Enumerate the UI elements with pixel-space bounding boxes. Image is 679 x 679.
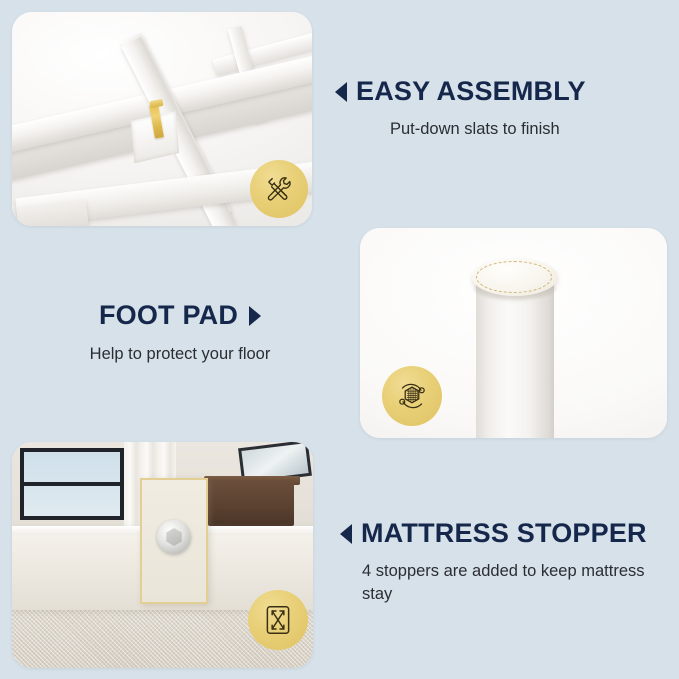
text-block-mattress-stopper: MATTRESS STOPPER 4 stoppers are added to… xyxy=(340,520,670,606)
heading-label: FOOT PAD xyxy=(99,302,238,329)
subtitle-foot-pad: Help to protect your floor xyxy=(20,343,340,366)
heading-label: EASY ASSEMBLY xyxy=(356,78,586,105)
heading-label: MATTRESS STOPPER xyxy=(361,520,647,547)
badge-mattress-stopper xyxy=(248,590,308,650)
badge-foot-pad xyxy=(382,366,442,426)
text-block-easy-assembly: EASY ASSEMBLY Put-down slats to finish xyxy=(335,78,665,141)
subtitle-mattress-stopper: 4 stoppers are added to keep mattress st… xyxy=(362,560,670,606)
heading-foot-pad: FOOT PAD xyxy=(20,302,340,329)
expand-arrows-icon xyxy=(261,603,295,637)
heading-mattress-stopper: MATTRESS STOPPER xyxy=(340,520,670,547)
photo-panel-easy-assembly xyxy=(12,12,312,226)
arrow-right-icon xyxy=(249,306,261,326)
arrow-left-icon xyxy=(340,524,352,544)
badge-easy-assembly xyxy=(250,160,308,218)
text-block-foot-pad: FOOT PAD Help to protect your floor xyxy=(20,302,340,366)
tools-icon xyxy=(262,172,296,206)
arrow-left-icon xyxy=(335,82,347,102)
heading-easy-assembly: EASY ASSEMBLY xyxy=(335,78,665,105)
photo-panel-mattress-stopper xyxy=(12,442,313,668)
photo-panel-foot-pad xyxy=(360,228,667,438)
infographic-canvas: EASY ASSEMBLY Put-down slats to finish xyxy=(0,0,679,679)
subtitle-easy-assembly: Put-down slats to finish xyxy=(390,118,665,141)
material-mesh-icon xyxy=(394,378,430,414)
